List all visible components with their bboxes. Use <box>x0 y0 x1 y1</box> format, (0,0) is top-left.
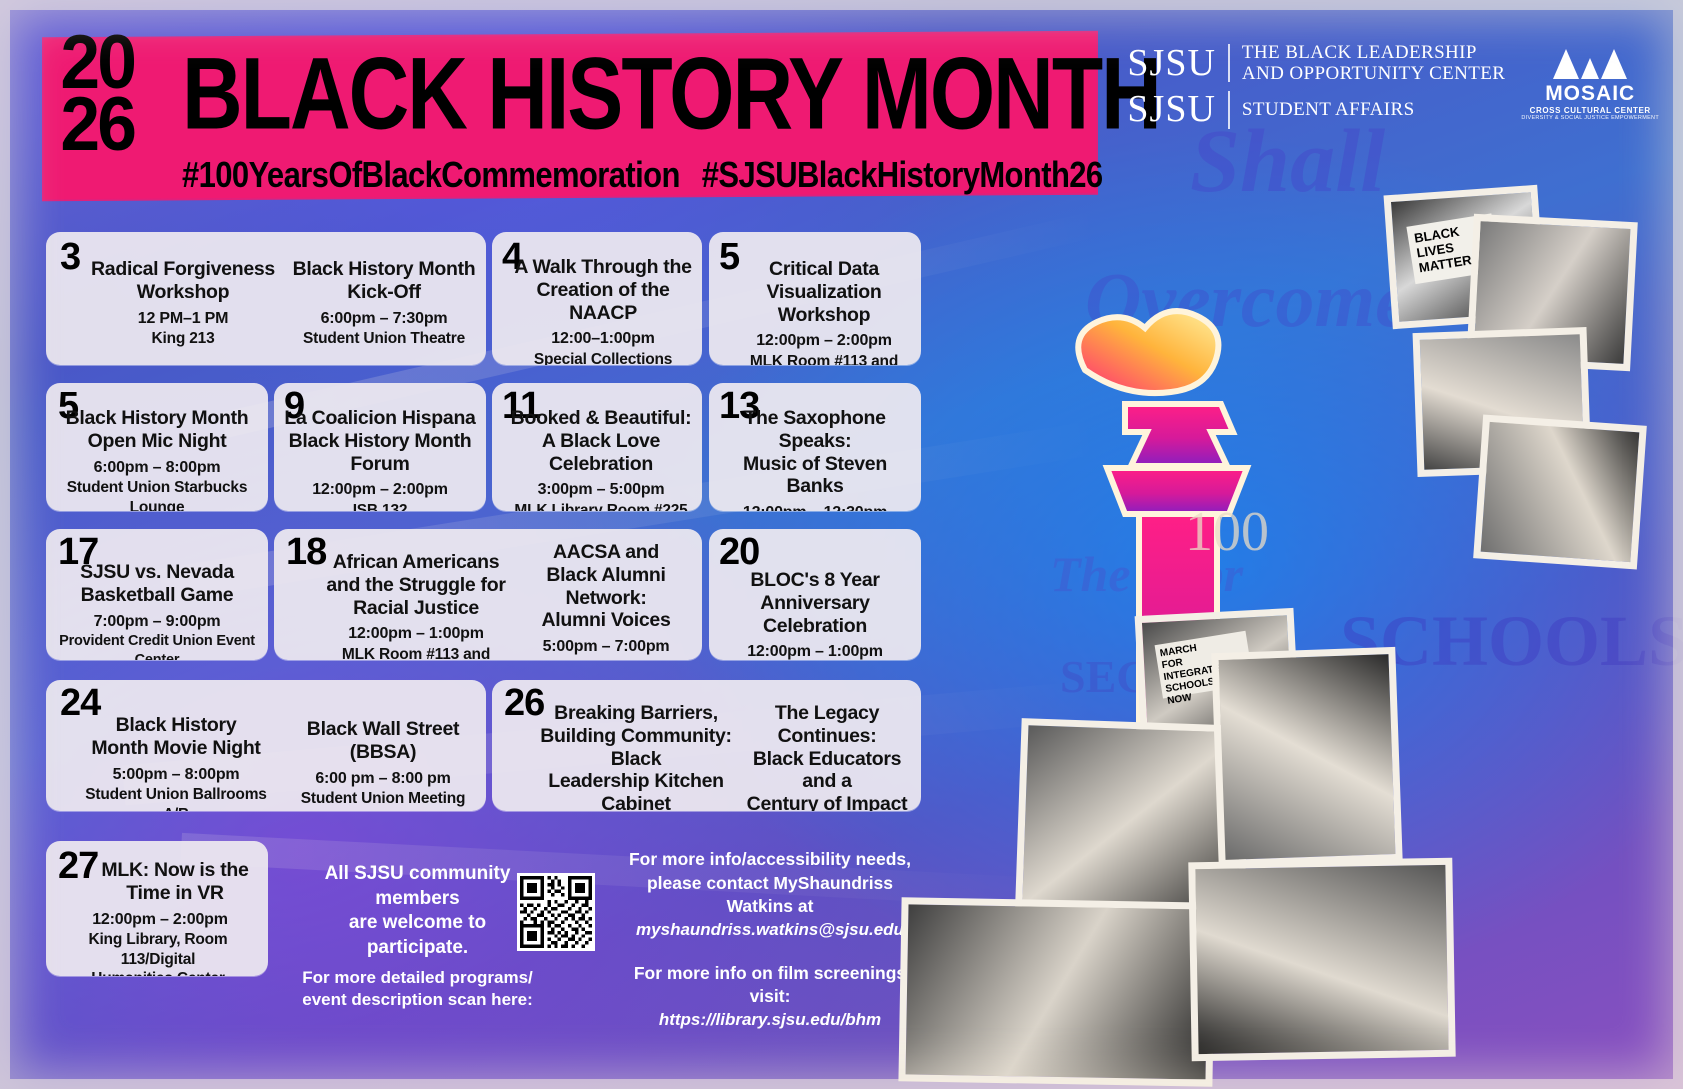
event-title: BLOC's 8 Year <box>713 569 917 592</box>
event-title-line3: Leadership Kitchen Cabinet <box>538 770 734 811</box>
event-title-line2: Basketball Game <box>46 584 268 607</box>
sjsu-wordmark: SJSU <box>1127 91 1216 127</box>
film-info-line: For more info on film screenings visit: <box>620 962 920 1009</box>
day-number: 20 <box>719 533 759 571</box>
mosaic-name: MOSAIC <box>1545 82 1635 106</box>
day-number: 3 <box>60 238 80 276</box>
event-entry[interactable]: Black History Month Kick-Off 6:00pm – 7:… <box>286 258 482 349</box>
event-entry[interactable]: MLK: Now is the Time in VR 12:00pm – 2:0… <box>86 859 264 976</box>
logo-group: SJSU THE BLACK LEADERSHIP AND OPPORTUNIT… <box>1127 42 1659 129</box>
event-location: African American <box>512 658 700 660</box>
event-title: SJSU vs. Nevada <box>46 561 268 584</box>
event-time: 12:00pm – 2:00pm <box>56 910 264 931</box>
hundred-label: 100 <box>1185 500 1269 564</box>
contact-line-1: For more info/accessibility needs, <box>620 848 920 872</box>
event-location: Provident Credit Union Event Center <box>46 632 268 660</box>
qr-code[interactable] <box>517 873 595 951</box>
event-card-day-4[interactable]: 4 A Walk Through the Creation of the NAA… <box>492 232 702 365</box>
scan-line-1: For more detailed programs/ <box>300 967 535 989</box>
event-title-line2: Creation of the NAACP <box>508 279 698 325</box>
contact-line-2: please contact MyShaundriss Watkins at <box>620 872 920 919</box>
event-title: Black History Month <box>50 407 264 430</box>
year-block: 20 26 <box>58 32 137 157</box>
sjsu-student-affairs-lockup: SJSU STUDENT AFFAIRS <box>1127 91 1505 129</box>
event-location: Student Union Starbucks Lounge <box>50 478 264 511</box>
mosaic-logo: MOSAIC CROSS CULTURAL CENTER DIVERSITY &… <box>1521 49 1659 121</box>
event-card-day-27[interactable]: 27 MLK: Now is the Time in VR 12:00pm – … <box>46 841 268 976</box>
event-title: Black History <box>76 714 276 737</box>
event-title: La Coalicion Hispana <box>274 407 486 430</box>
event-entry[interactable]: Critical Data Visualization Workshop 12:… <box>731 258 917 365</box>
event-location: MLK Room #113 and ZOOM <box>731 352 917 365</box>
event-time: 12:00pm – 1:00pm <box>322 624 510 645</box>
divider <box>1228 91 1230 129</box>
scan-line-2: event description scan here: <box>300 989 535 1011</box>
event-time: 7:00pm – 9:00pm <box>46 612 268 633</box>
divider <box>1228 44 1230 82</box>
event-card-day-26[interactable]: 26 Breaking Barriers, Building Community… <box>492 680 921 811</box>
event-title: Black History Month <box>286 258 482 281</box>
event-time: 12:00pm – 2:00pm <box>731 331 917 352</box>
event-location: King Library, Room 113/Digital <box>52 930 264 969</box>
event-location: MLK Library Room #225 <box>504 501 698 511</box>
year-bottom: 26 <box>60 94 134 156</box>
hashtag-primary: #100YearsOfBlackCommemoration <box>182 154 680 195</box>
event-entry[interactable]: African Americans and the Struggle for R… <box>322 551 510 660</box>
historic-portrait-photo <box>1211 647 1402 867</box>
bloc-name: THE BLACK LEADERSHIP AND OPPORTUNITY CEN… <box>1242 42 1505 85</box>
welcome-line-1: All SJSU community members <box>300 862 535 911</box>
event-time: 12:00–1:00pm <box>508 329 698 350</box>
event-title: A Walk Through the <box>508 256 698 279</box>
event-time: 5:00pm – 7:00pm <box>512 637 700 658</box>
event-time: 12:00pm – 2:00pm <box>274 480 486 501</box>
event-time: 6:00pm – 7:30pm <box>286 309 482 330</box>
event-entry[interactable]: The Legacy Continues: Black Educators an… <box>734 702 920 811</box>
event-title-line2: Month Movie Night <box>76 737 276 760</box>
event-title-line2: Building Community: Black <box>538 725 734 771</box>
page-title: BLACK HISTORY MONTH <box>182 42 1160 144</box>
event-entry[interactable]: Radical Forgiveness Workshop 12 PM–1 PM … <box>88 258 278 349</box>
event-entry[interactable]: La Coalicion Hispana Black History Month… <box>274 407 486 511</box>
bloc-line-2: AND OPPORTUNITY CENTER <box>1242 63 1505 84</box>
event-location: Student Union Theatre <box>286 329 482 348</box>
event-entry[interactable]: Black History Month Movie Night 5:00pm –… <box>76 714 276 811</box>
event-entry[interactable]: Black Wall Street (BBSA) 6:00 pm – 8:00 … <box>282 718 484 811</box>
event-location: ISB 132 <box>274 501 486 511</box>
event-location: Student Union Ballrooms A/B <box>76 785 276 811</box>
sjsu-lockups: SJSU THE BLACK LEADERSHIP AND OPPORTUNIT… <box>1127 42 1505 129</box>
event-entry[interactable]: BLOC's 8 Year Anniversary Celebration 12… <box>713 569 917 660</box>
portrait-photo-smiling <box>1473 414 1647 569</box>
student-affairs-name: STUDENT AFFAIRS <box>1242 99 1415 120</box>
title-banner: 20 26 BLACK HISTORY MONTH #100YearsOfBla… <box>44 33 1096 199</box>
event-location-line2: Humanities Center <box>52 969 264 976</box>
film-url-link[interactable]: https://library.sjsu.edu/bhm <box>620 1009 920 1032</box>
event-card-day-3[interactable]: 3 Radical Forgiveness Workshop 12 PM–1 P… <box>46 232 486 365</box>
sjsu-bloc-lockup: SJSU THE BLACK LEADERSHIP AND OPPORTUNIT… <box>1127 42 1505 85</box>
event-entry[interactable]: AACSA and Black Alumni Network: Alumni V… <box>512 541 700 660</box>
bloc-line-1: THE BLACK LEADERSHIP <box>1242 42 1505 63</box>
event-time: 3:00pm – 5:00pm <box>504 480 698 501</box>
event-entry[interactable]: The Saxophone Speaks: Music of Steven Ba… <box>715 407 915 511</box>
event-entry[interactable]: SJSU vs. Nevada Basketball Game 7:00pm –… <box>46 561 268 660</box>
event-card-day-5-open-mic[interactable]: 5 Black History Month Open Mic Night 6:0… <box>46 383 268 511</box>
event-card-day-20[interactable]: 20 BLOC's 8 Year Anniversary Celebration… <box>709 529 921 660</box>
event-title: African Americans <box>322 551 510 574</box>
event-card-day-9[interactable]: 9 La Coalicion Hispana Black History Mon… <box>274 383 486 511</box>
event-title: Black Wall Street (BBSA) <box>282 718 484 764</box>
day-number: 18 <box>286 533 326 571</box>
event-time: 6:00 pm – 8:00 pm <box>282 769 484 790</box>
sjsu-wordmark: SJSU <box>1127 45 1216 81</box>
event-title: Breaking Barriers, <box>538 702 734 725</box>
event-title: The Legacy Continues: <box>734 702 920 748</box>
qr-code-image <box>520 876 592 948</box>
event-location: Special Collections Lobby, <box>508 350 698 365</box>
poster-canvas: Shall Overcome SCHOOLS The Supr SEGREGAT… <box>0 0 1683 1089</box>
event-card-day-24[interactable]: 24 Black History Month Movie Night 5:00p… <box>46 680 486 811</box>
mosaic-tagline: DIVERSITY & SOCIAL JUSTICE EMPOWERMENT <box>1521 115 1659 121</box>
welcome-line-2: are welcome to participate. <box>300 911 535 960</box>
event-location: King 213 <box>88 329 278 348</box>
event-time: 12:00pm – 1:00pm <box>713 642 917 660</box>
hashtag-row: #100YearsOfBlackCommemoration#SJSUBlackH… <box>182 154 1103 196</box>
event-card-day-13[interactable]: 13 The Saxophone Speaks: Music of Steven… <box>709 383 921 511</box>
event-title: Critical Data <box>731 258 917 281</box>
event-title-line2: Time in VR <box>86 882 264 905</box>
event-title-line3: Century of Impact <box>734 793 920 811</box>
event-title-line3: Racial Justice <box>322 597 510 620</box>
contact-email-link[interactable]: myshaundriss.watkins@sjsu.edu <box>620 919 920 942</box>
event-title: AACSA and <box>512 541 700 564</box>
event-title-line2: A Black Love Celebration <box>504 430 698 476</box>
mosaic-subtitle: CROSS CULTURAL CENTER <box>1530 106 1651 115</box>
event-title: Radical Forgiveness <box>88 258 278 281</box>
historic-group-photo <box>1188 858 1455 1062</box>
event-time: 12 PM–1 PM <box>88 309 278 330</box>
event-title: Booked & Beautiful: <box>504 407 698 430</box>
event-title-line2: Workshop <box>88 281 278 304</box>
event-title-line2: Music of Steven Banks <box>715 453 915 499</box>
event-entry[interactable]: A Walk Through the Creation of the NAACP… <box>508 256 698 365</box>
event-entry[interactable]: Black History Month Open Mic Night 6:00p… <box>50 407 264 511</box>
mosaic-triangles-icon <box>1553 49 1627 79</box>
event-card-day-17[interactable]: 17 SJSU vs. Nevada Basketball Game 7:00p… <box>46 529 268 660</box>
event-location: Student Union Meeting Room 2A <box>282 789 484 811</box>
event-card-day-18[interactable]: 18 African Americans and the Struggle fo… <box>274 529 702 660</box>
event-time: 12:00pm – 12:30pm <box>715 503 915 511</box>
footer-contact-block: For more info/accessibility needs, pleas… <box>620 848 920 1032</box>
event-time: 6:00pm – 8:00pm <box>50 458 264 479</box>
event-time: 5:00pm – 8:00pm <box>76 765 276 786</box>
event-title: The Saxophone Speaks: <box>715 407 915 453</box>
event-title-line2: and the Struggle for <box>322 574 510 597</box>
event-title-line2: Black Educators and a <box>734 748 920 794</box>
event-title-line2: Kick-Off <box>286 281 482 304</box>
event-card-day-11[interactable]: 11 Booked & Beautiful: A Black Love Cele… <box>492 383 702 511</box>
event-title-line3: Alumni Voices <box>512 609 700 632</box>
event-entry[interactable]: Booked & Beautiful: A Black Love Celebra… <box>504 407 698 511</box>
community-crowd-photo <box>898 897 1215 1086</box>
event-title: MLK: Now is the <box>86 859 264 882</box>
event-title-line2: Visualization Workshop <box>731 281 917 327</box>
event-title-line2: Black History Month Forum <box>274 430 486 476</box>
footer-welcome-block: All SJSU community members are welcome t… <box>300 862 535 1011</box>
event-title-line2: Anniversary Celebration <box>713 592 917 638</box>
event-title-line2: Black Alumni Network: <box>512 564 700 610</box>
event-card-day-5-critical-data[interactable]: 5 Critical Data Visualization Workshop 1… <box>709 232 921 365</box>
event-title-line2: Open Mic Night <box>50 430 264 453</box>
event-entry[interactable]: Breaking Barriers, Building Community: B… <box>538 702 734 811</box>
hashtag-secondary: #SJSUBlackHistoryMonth26 <box>702 154 1103 195</box>
event-location: MLK Room #113 and ZOOM <box>322 645 510 660</box>
